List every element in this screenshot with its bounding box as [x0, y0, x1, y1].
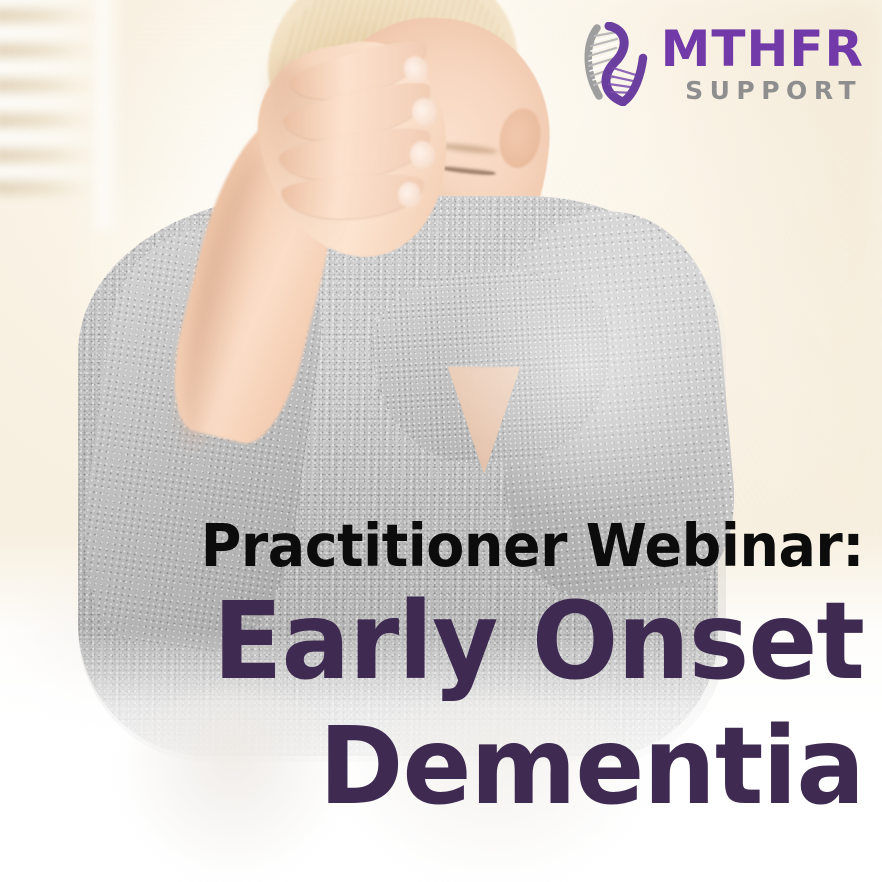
- dna-helix-icon: [583, 22, 659, 106]
- headline-main-line-2: Dementia: [43, 714, 864, 821]
- mthfr-support-logo[interactable]: MTHFR SUPPORT: [564, 14, 864, 114]
- headline-main-line-1: Early Onset: [43, 589, 864, 696]
- logo-brand-name: MTHFR: [661, 25, 864, 73]
- headline-kicker: Practitioner Webinar:: [52, 516, 864, 575]
- webinar-promo-card: MTHFR SUPPORT Practitioner Webinar: Earl…: [0, 0, 882, 882]
- headline-block: Practitioner Webinar: Early Onset Dement…: [0, 516, 882, 821]
- logo-wordmark: MTHFR SUPPORT: [661, 25, 864, 103]
- logo-tagline: SUPPORT: [685, 78, 862, 103]
